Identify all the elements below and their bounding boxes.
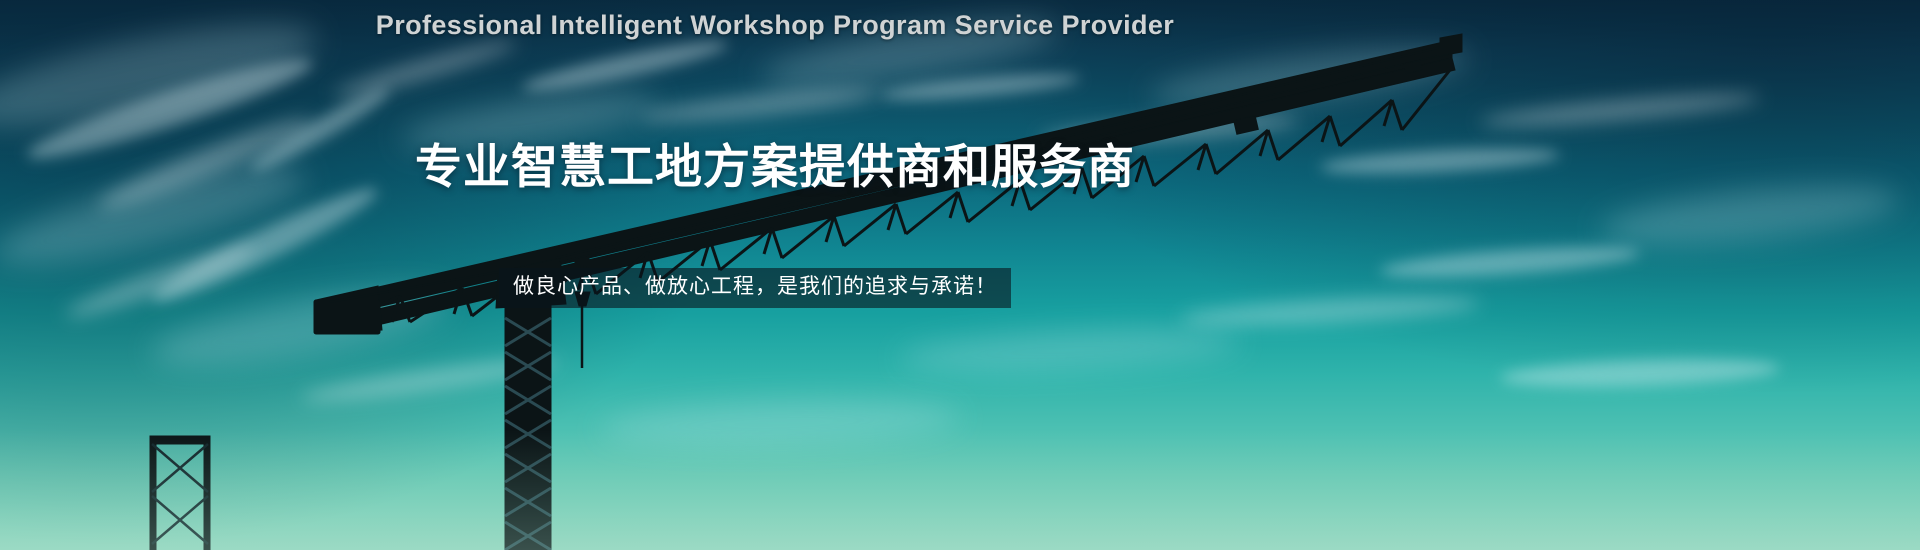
page-title: 专业智慧工地方案提供商和服务商 xyxy=(0,128,1920,197)
english-tagline: Professional Intelligent Workshop Progra… xyxy=(0,10,1920,41)
hero-banner: Professional Intelligent Workshop Progra… xyxy=(0,0,1920,550)
banner-subtitle: 做良心产品、做放心工程，是我们的追求与承诺！ xyxy=(499,268,1011,308)
